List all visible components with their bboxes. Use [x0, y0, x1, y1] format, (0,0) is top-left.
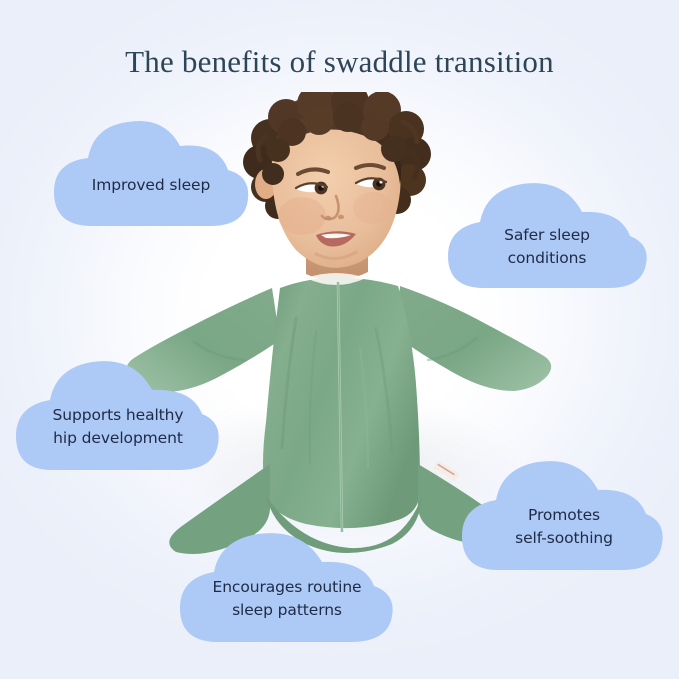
cloud-shape-icon	[440, 176, 654, 292]
cloud-shape-icon	[46, 112, 256, 230]
page-title: The benefits of swaddle transition	[0, 44, 679, 80]
cloud-supports-healthy-hip-development[interactable]: Supports healthy hip development	[8, 352, 228, 474]
cloud-safer-sleep-conditions[interactable]: Safer sleep conditions	[440, 176, 654, 292]
poster-canvas: The benefits of swaddle transition	[0, 0, 679, 679]
cloud-promotes-self-soothing[interactable]: Promotes self-soothing	[456, 452, 672, 574]
cloud-shape-icon	[8, 352, 228, 474]
cloud-shape-icon	[456, 452, 672, 574]
cloud-encourages-routine-sleep-patterns[interactable]: Encourages routine sleep patterns	[172, 522, 402, 646]
cloud-improved-sleep[interactable]: Improved sleep	[46, 112, 256, 230]
cloud-shape-icon	[172, 522, 402, 646]
